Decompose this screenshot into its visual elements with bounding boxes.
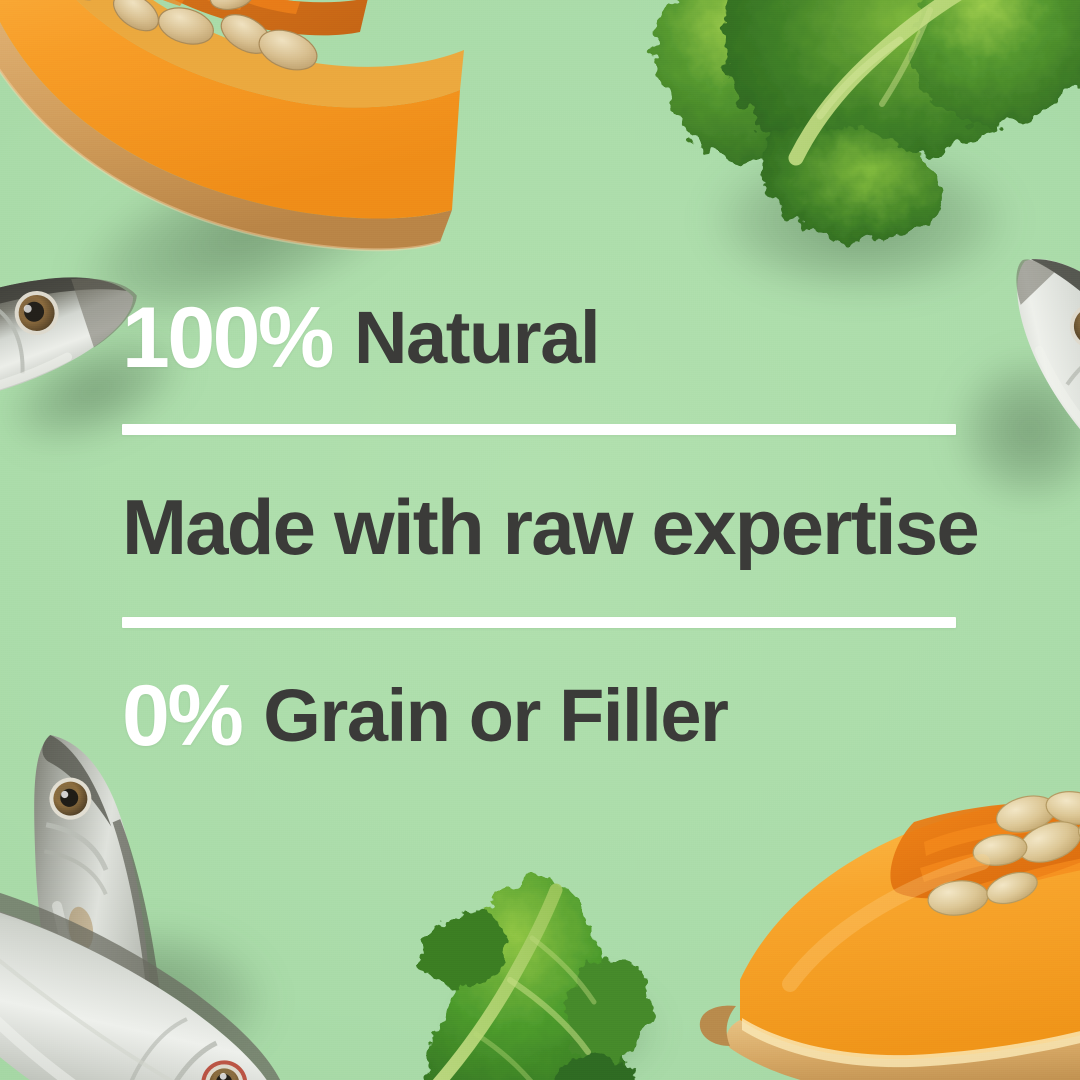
divider-bottom <box>122 617 956 628</box>
claim-label-raw-expertise: Made with raw expertise <box>122 488 978 566</box>
claim-row-raw-expertise: Made with raw expertise <box>122 471 958 583</box>
claim-row-natural: 100% Natural <box>122 286 958 390</box>
claim-row-grain-free: 0% Grain or Filler <box>122 664 958 768</box>
claims-block: 100% Natural Made with raw expertise 0% … <box>122 286 958 768</box>
claim-label-natural: Natural <box>354 301 599 375</box>
marketing-tile: 100% Natural Made with raw expertise 0% … <box>0 0 1080 1080</box>
claim-stat-grain-free: 0% <box>122 673 241 759</box>
divider-top <box>122 424 956 435</box>
claim-label-grain-free: Grain or Filler <box>263 679 727 753</box>
claim-stat-natural: 100% <box>122 295 332 381</box>
